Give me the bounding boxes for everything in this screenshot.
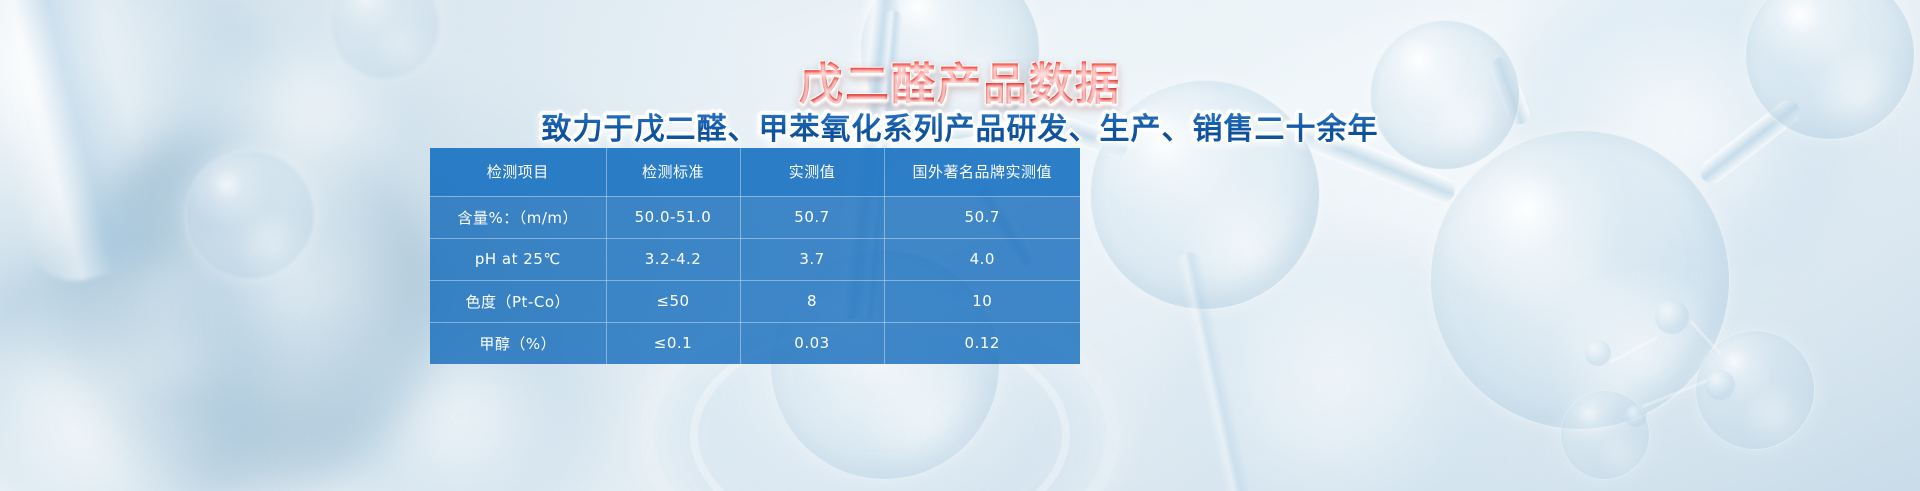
background-blur-blob — [0, 240, 280, 491]
spec-table-container: 检测项目 检测标准 实测值 国外著名品牌实测值 含量%：（m/m） 50.0-5… — [430, 148, 1080, 364]
cell-measured: 3.7 — [740, 238, 884, 280]
cell-item: 甲醇（%） — [430, 322, 606, 364]
pipette-streak — [1174, 250, 1251, 491]
background-blur-blob — [60, 120, 440, 491]
spec-table-body: 含量%：（m/m） 50.0-51.0 50.7 50.7 pH at 25℃ … — [430, 196, 1080, 364]
cell-foreign-brand: 50.7 — [884, 196, 1080, 238]
molecule-sphere — [1430, 130, 1730, 430]
background-blur-blob — [1180, 250, 1520, 491]
molecule-sphere — [1560, 390, 1650, 480]
molecule-sphere — [1695, 330, 1815, 450]
cell-measured: 0.03 — [740, 322, 884, 364]
spec-table: 检测项目 检测标准 实测值 国外著名品牌实测值 含量%：（m/m） 50.0-5… — [430, 148, 1080, 364]
cell-standard: ≤50 — [606, 280, 740, 322]
background-blur-blob — [1500, 0, 1860, 300]
cell-item: 色度（Pt-Co） — [430, 280, 606, 322]
page-title: 戊二醛产品数据 — [799, 48, 1121, 112]
cell-foreign-brand: 10 — [884, 280, 1080, 322]
spec-table-header: 检测项目 检测标准 实测值 国外著名品牌实测值 — [430, 148, 1080, 196]
column-header-standard: 检测标准 — [606, 148, 740, 196]
molecule-sphere — [185, 150, 315, 280]
table-row: 含量%：（m/m） 50.0-51.0 50.7 50.7 — [430, 196, 1080, 238]
table-row: 色度（Pt-Co） ≤50 8 10 — [430, 280, 1080, 322]
page-subtitle: 致力于戊二醛、甲苯氧化系列产品研发、生产、销售二十余年 — [542, 104, 1379, 148]
column-header-item: 检测项目 — [430, 148, 606, 196]
mini-molecule-cluster — [1585, 300, 1765, 450]
table-row: 甲醇（%） ≤0.1 0.03 0.12 — [430, 322, 1080, 364]
cell-item: pH at 25℃ — [430, 238, 606, 280]
cell-standard: ≤0.1 — [606, 322, 740, 364]
cell-standard: 3.2-4.2 — [606, 238, 740, 280]
cell-item: 含量%：（m/m） — [430, 196, 606, 238]
cell-standard: 50.0-51.0 — [606, 196, 740, 238]
subheadline-container: 致力于戊二醛、甲苯氧化系列产品研发、生产、销售二十余年 — [0, 104, 1920, 148]
table-row: pH at 25℃ 3.2-4.2 3.7 4.0 — [430, 238, 1080, 280]
cell-foreign-brand: 0.12 — [884, 322, 1080, 364]
cell-measured: 50.7 — [740, 196, 884, 238]
table-header-row: 检测项目 检测标准 实测值 国外著名品牌实测值 — [430, 148, 1080, 196]
column-header-foreign-brand: 国外著名品牌实测值 — [884, 148, 1080, 196]
cell-measured: 8 — [740, 280, 884, 322]
column-header-measured: 实测值 — [740, 148, 884, 196]
headline-container: 戊二醛产品数据 — [0, 48, 1920, 112]
cell-foreign-brand: 4.0 — [884, 238, 1080, 280]
product-data-banner: 戊二醛产品数据 致力于戊二醛、甲苯氧化系列产品研发、生产、销售二十余年 检测项目… — [0, 0, 1920, 491]
glass-tube-streak — [55, 245, 366, 396]
